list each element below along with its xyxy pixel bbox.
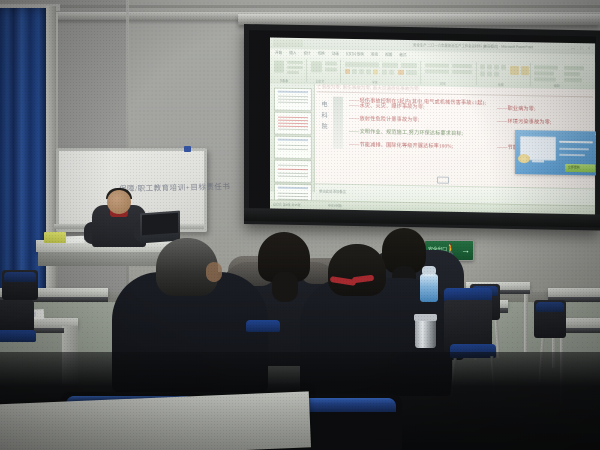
sun-icon [518,154,530,163]
powerpoint-window[interactable]: 安全生产 二〇一六年度安全生产工作会议材料 [兼容模式] - Microsoft… [270,37,595,215]
window-controls[interactable]: — □ × [571,45,592,50]
slide-thumbnail[interactable] [274,112,312,136]
slide-thumbnail[interactable] [274,136,312,160]
empty-chair-cushion [0,330,36,342]
arrow-right-icon: → [461,246,470,255]
attendee-1-ear [206,262,222,282]
empty-chair-cushion [4,272,36,282]
blue-water-bottle[interactable] [420,274,438,302]
toast-line-1 [559,148,589,151]
slide-thumbnail[interactable] [274,88,312,112]
tab-review[interactable]: 审阅 [371,52,378,57]
presenter-laptop[interactable] [140,211,180,244]
slide-bullet: ——节能减排、国际化等级开展达标率100%; [349,141,453,150]
desk-right-back-2[interactable] [548,288,600,297]
chair-back-mid[interactable] [246,320,280,332]
whiteboard-marker-clip [184,146,191,152]
attendee-2-ponytail [272,272,298,302]
slide-bullet: ——放射性危险计量事故为零; [349,115,419,123]
slide-bullet: ——文明作业、规范施工,努力环保达标要求目标; [349,128,463,137]
ribbon-label-font: 字体 [372,80,378,84]
ribbon-label-slides: 幻灯片 [316,79,324,83]
update-now-label: 立即更新 [568,165,580,169]
slide-sidebar-band [333,97,343,149]
tab-design[interactable]: 设计 [303,51,310,56]
ppt-window-title: 安全生产 二〇一六年度安全生产工作会议材料 [兼容模式] - Microsoft… [413,42,533,49]
ceiling-seam [0,5,600,8]
slide-bullet: ——环境污染事故为零; [497,118,552,126]
stainless-thermos[interactable] [415,318,436,348]
tissue-box[interactable] [44,232,66,243]
desk-papers[interactable] [66,236,84,244]
classroom-scene: 绿色安全、健康管理 保障/职工教育培训+目标责任书 安全生产 二〇一六年度安全生… [0,0,600,450]
slide-vertical-label: 电科院 [319,100,330,133]
projection-surface: 安全生产 二〇一六年度安全生产工作会议材料 [兼容模式] - Microsoft… [249,30,596,216]
ribbon-group-paragraph[interactable]: 段落 [422,61,477,85]
ribbon-label-drawing: 绘图 [498,83,504,87]
laptop-screen [142,213,178,236]
tab-animations[interactable]: 动画 [332,52,339,57]
whiteboard-line-2: 保障/职工教育培训+目标责任书 [119,180,247,196]
slide-thumbnail-panel[interactable] [270,83,315,192]
tab-view[interactable]: 视图 [385,53,392,58]
slide-bullet: ——水灾、火灾、爆炸事故为零; [349,102,425,110]
bottle-cap [422,266,436,276]
ribbon-group-editing[interactable]: 编辑 [532,63,590,87]
slide-bullet: ——职业病为零; [497,105,536,113]
slide-canvas[interactable]: 亡事故为零; 重伤事故为零; 重大交通责任事故为零; 电科院 ——轻伤事故控制在… [315,84,595,189]
tab-format[interactable]: 格式 [399,53,406,58]
desk-leg [524,294,528,352]
update-notification-toast[interactable]: × 立即更新 [515,130,596,176]
ribbon-group-slides[interactable]: 幻灯片 [308,59,341,83]
tab-transitions[interactable]: 切换 [318,51,325,56]
notes-placeholder: 单击此处添加备注 [319,188,346,193]
ribbon-label-editing: 编辑 [554,84,560,88]
close-icon[interactable]: × [595,132,596,136]
presenter-head [107,190,131,214]
slide-number-box [437,177,449,184]
tab-insert[interactable]: 插入 [289,51,296,56]
quick-access-toolbar[interactable] [273,39,303,48]
slide-thumbnail[interactable] [274,160,312,184]
ribbon-label-clipboard: 剪贴板 [280,79,288,83]
ribbon-label-paragraph: 段落 [440,82,446,86]
projection-screen: 安全生产 二〇一六年度安全生产工作会议材料 [兼容模式] - Microsoft… [244,24,600,231]
ribbon-group-drawing[interactable]: 绘图 [478,62,531,86]
status-slide-count: 幻灯片 第8张,共35张 [273,203,301,208]
empty-chair-back[interactable] [0,300,34,332]
empty-chair-cushion [536,302,564,312]
status-language: 中文(中国) [328,204,342,208]
projector-screen-housing [238,14,600,25]
update-now-button[interactable]: 立即更新 [565,164,595,173]
thermos-lid [414,314,437,321]
ribbon-group-font[interactable]: 字体 [342,60,421,84]
ribbon-group-clipboard[interactable]: 剪贴板 [272,59,307,83]
tab-home[interactable]: 开始 [275,51,282,56]
toast-line-2 [559,154,585,156]
attendee-3-hair [328,244,386,296]
toast-heading-bar [559,141,593,144]
tab-slideshow[interactable]: 幻灯片放映 [346,52,364,57]
